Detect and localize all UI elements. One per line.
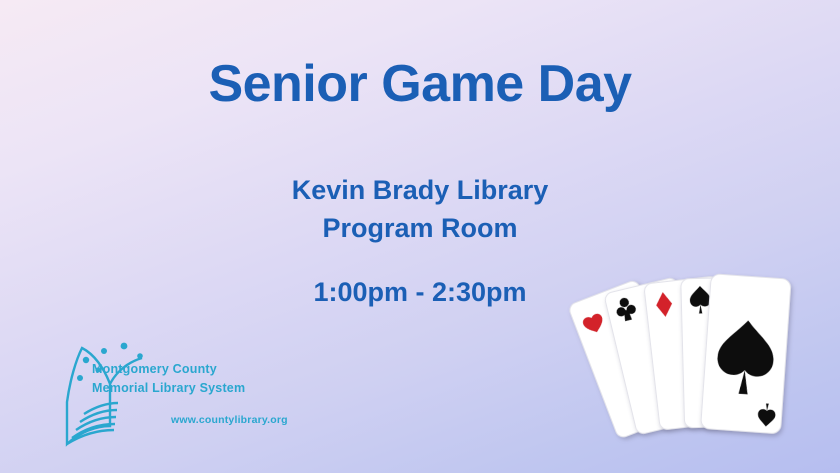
- event-flyer-slide: Senior Game Day Kevin Brady Library Prog…: [0, 0, 840, 473]
- logo-org-line-1: Montgomery County: [92, 360, 245, 379]
- logo-org-line-2: Memorial Library System: [92, 379, 245, 398]
- logo-org-name: Montgomery County Memorial Library Syste…: [92, 360, 245, 399]
- playing-cards-graphic: [565, 240, 815, 465]
- location-line-1: Kevin Brady Library: [0, 171, 840, 209]
- card-ace-of-spades: [701, 274, 792, 434]
- page-title: Senior Game Day: [0, 54, 840, 114]
- logo-website-url: www.countylibrary.org: [171, 414, 288, 426]
- event-location: Kevin Brady Library Program Room: [0, 171, 840, 248]
